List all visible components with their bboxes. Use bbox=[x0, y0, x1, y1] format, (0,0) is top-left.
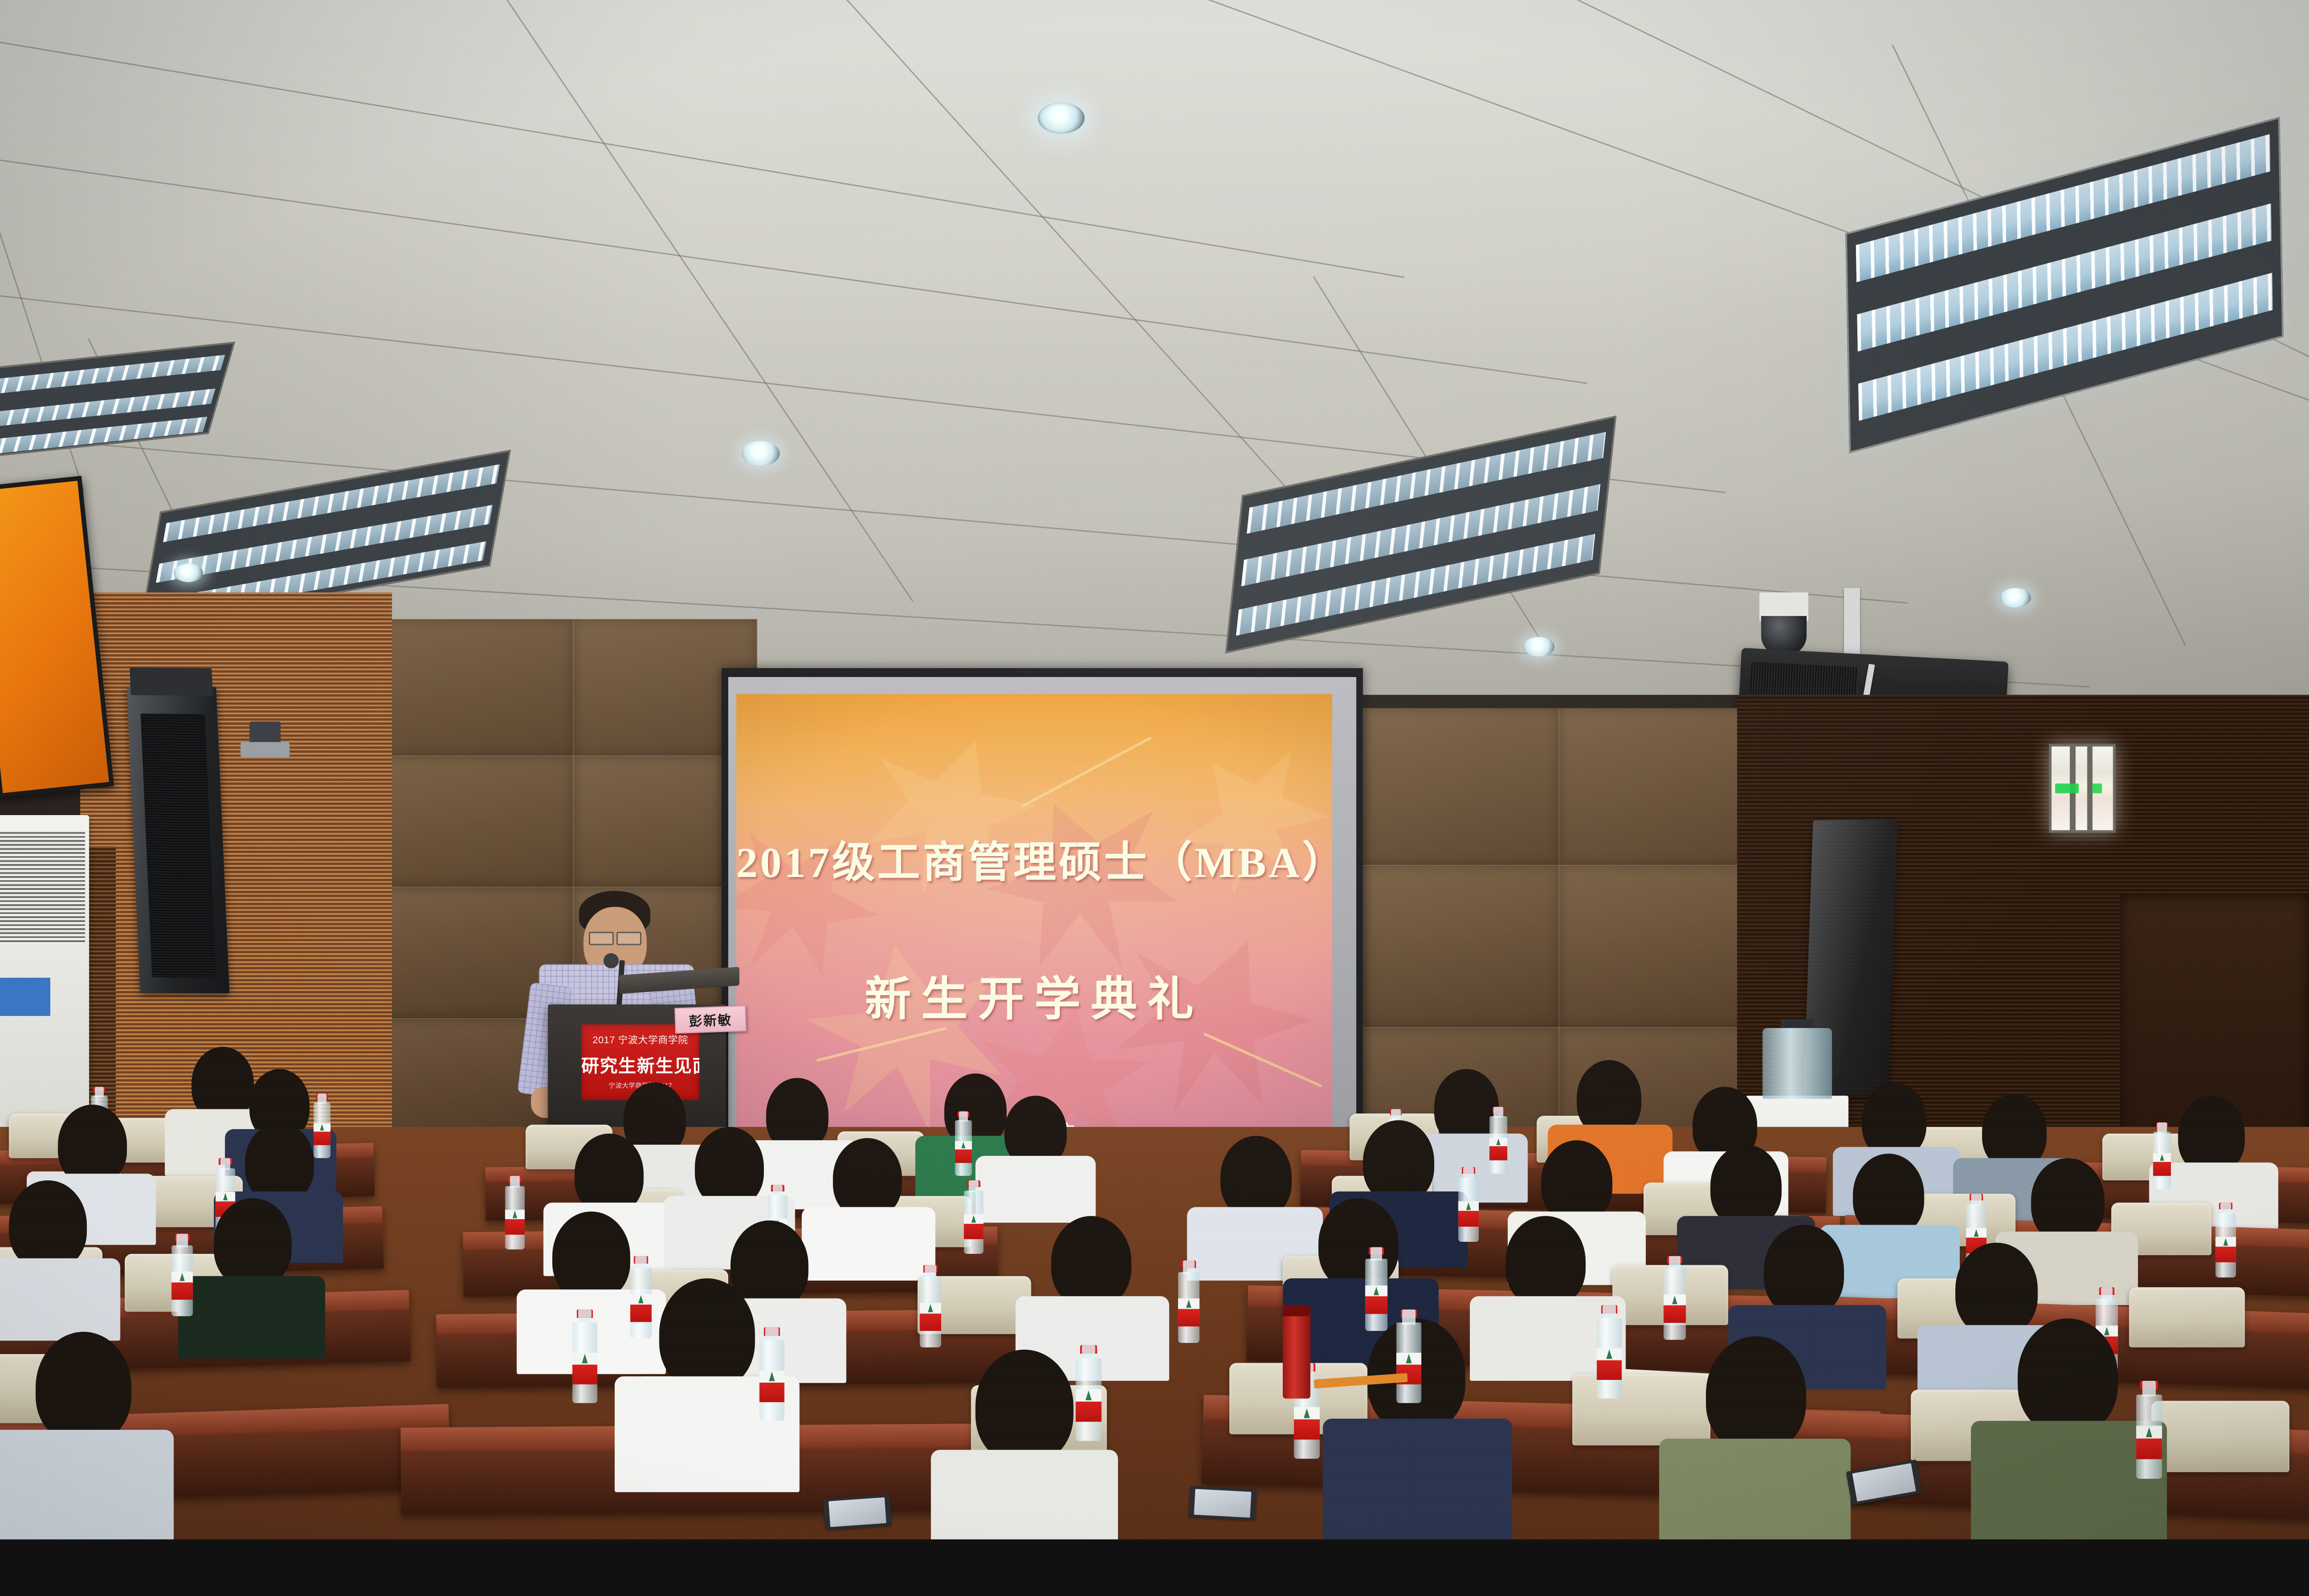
speaker-nameplate: 彭新敏 bbox=[674, 1005, 746, 1034]
attendee-body bbox=[1659, 1439, 1851, 1539]
podium-banner-line-2: 研究生新生见面会 bbox=[581, 1052, 700, 1077]
water-bottle[interactable] bbox=[1176, 1261, 1202, 1343]
water-bottle[interactable] bbox=[503, 1176, 526, 1249]
water-bottle[interactable] bbox=[2134, 1381, 2165, 1479]
attendee-head bbox=[659, 1278, 755, 1390]
attendee-body bbox=[1323, 1419, 1512, 1539]
attendee-body bbox=[0, 1258, 120, 1341]
ceiling-downlight bbox=[1038, 103, 1084, 134]
seat-cushion bbox=[2152, 1401, 2290, 1472]
attendee-head bbox=[1541, 1140, 1612, 1222]
slide-title-line-2: 新生开学典礼 bbox=[736, 961, 1332, 1028]
attendee-head bbox=[1706, 1336, 1806, 1452]
attendee-head bbox=[9, 1180, 87, 1270]
attendee-head bbox=[833, 1138, 902, 1218]
seat-cushion bbox=[1572, 1374, 1711, 1445]
exit-window bbox=[2049, 744, 2116, 833]
attendee-head bbox=[58, 1105, 127, 1185]
ceiling bbox=[0, 0, 2309, 695]
water-bottle[interactable] bbox=[962, 1180, 985, 1254]
water-bottle[interactable] bbox=[1394, 1310, 1424, 1403]
smartphone[interactable] bbox=[1189, 1486, 1257, 1521]
water-bottle[interactable] bbox=[570, 1310, 600, 1403]
exit-sign-icon bbox=[2055, 783, 2079, 793]
attendee-head bbox=[1711, 1145, 1782, 1227]
water-bottle[interactable] bbox=[1457, 1167, 1481, 1242]
ceiling-downlight bbox=[174, 563, 203, 582]
attendee-head bbox=[975, 1349, 1073, 1463]
attendee-head bbox=[245, 1123, 314, 1203]
attendee-head bbox=[36, 1332, 131, 1443]
attendee-head bbox=[574, 1134, 643, 1214]
water-bottle[interactable] bbox=[757, 1327, 787, 1421]
attendee-body bbox=[975, 1156, 1095, 1223]
attendee-head bbox=[2178, 1096, 2245, 1174]
attendee-body bbox=[178, 1276, 325, 1358]
water-bottle[interactable] bbox=[1662, 1256, 1688, 1340]
microphone-head-icon bbox=[604, 953, 619, 968]
seat-cushion bbox=[2129, 1287, 2245, 1347]
attendee-head bbox=[214, 1198, 292, 1288]
water-bottle[interactable] bbox=[628, 1256, 654, 1338]
water-bottle[interactable] bbox=[312, 1094, 332, 1158]
attendee-body bbox=[0, 1430, 174, 1539]
attendee-head bbox=[1505, 1216, 1586, 1307]
water-bottle[interactable] bbox=[1487, 1107, 1509, 1174]
ceiling-downlight bbox=[2000, 588, 2031, 607]
eyeglasses-icon bbox=[589, 932, 614, 945]
slide-title-line-1: 2017级工商管理硕士（MBA） bbox=[736, 828, 1332, 889]
water-bottle[interactable] bbox=[1595, 1305, 1624, 1399]
attendee-head bbox=[1955, 1243, 2037, 1336]
wall-camera-icon bbox=[241, 722, 290, 757]
attendee-head bbox=[2031, 1158, 2104, 1243]
lecture-hall-photo: 2017级工商管理硕士（MBA） 新生开学典礼 商学院 2017年 月 日 20… bbox=[0, 0, 2309, 1539]
eyeglasses-icon bbox=[617, 932, 641, 945]
water-bottle[interactable] bbox=[2152, 1123, 2173, 1190]
attendee-body bbox=[931, 1450, 1118, 1539]
exit-sign-icon bbox=[2092, 783, 2102, 793]
ceiling-downlight bbox=[742, 441, 780, 466]
attendee-head bbox=[1363, 1120, 1434, 1203]
attendee-head bbox=[2018, 1318, 2118, 1434]
water-bottle[interactable] bbox=[169, 1234, 195, 1316]
attendee-head bbox=[552, 1211, 630, 1300]
attendee-head bbox=[1853, 1154, 1924, 1236]
attendee-head bbox=[1051, 1216, 1131, 1307]
water-bottle[interactable] bbox=[1073, 1345, 1104, 1441]
attendee-body bbox=[802, 1207, 935, 1281]
water-bottle[interactable] bbox=[1363, 1247, 1390, 1331]
left-wall-speaker bbox=[127, 686, 230, 994]
dome-security-camera-icon bbox=[1759, 592, 1808, 655]
attendee-head bbox=[1221, 1136, 1292, 1218]
water-bottle[interactable] bbox=[2214, 1203, 2238, 1277]
attendee-head bbox=[1764, 1225, 1844, 1316]
ceiling-downlight bbox=[1523, 637, 1555, 656]
attendee-head bbox=[695, 1127, 764, 1207]
thermos-flask[interactable] bbox=[1283, 1305, 1311, 1399]
podium-banner-line-1: 2017 宁波大学商学院 bbox=[581, 1032, 700, 1046]
water-bottle[interactable] bbox=[918, 1265, 943, 1347]
presentation-slide: 2017级工商管理硕士（MBA） 新生开学典礼 商学院 2017年 月 日 bbox=[736, 694, 1332, 1144]
smartphone[interactable] bbox=[823, 1494, 892, 1530]
water-bottle[interactable] bbox=[953, 1111, 973, 1176]
